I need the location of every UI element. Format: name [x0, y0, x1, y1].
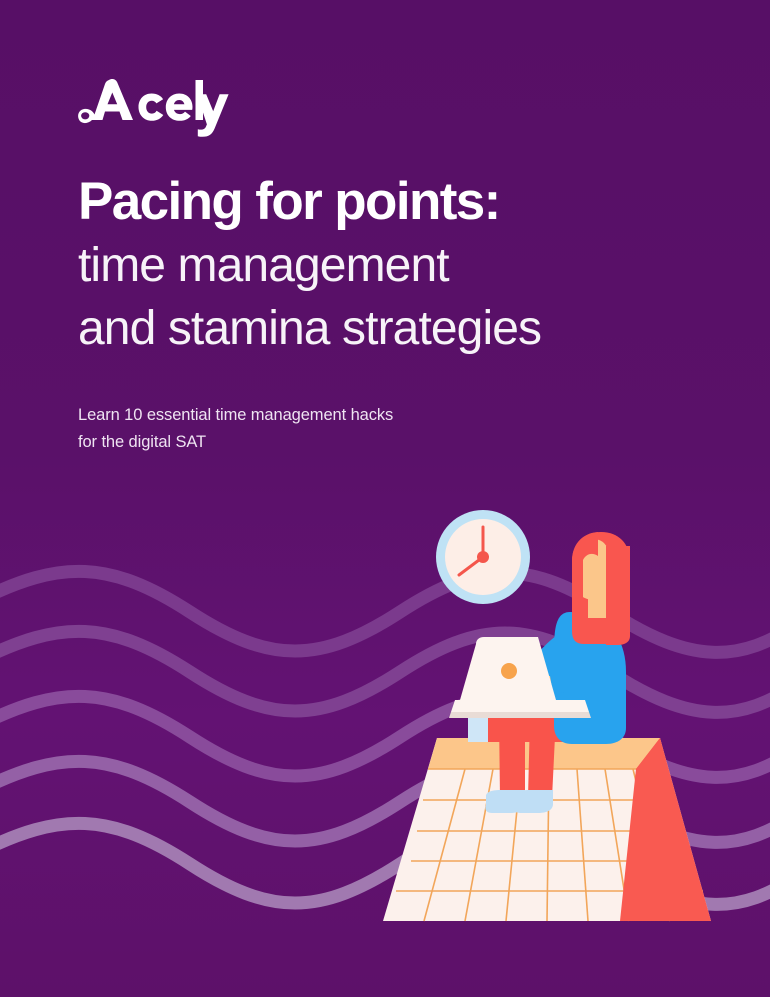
- cover-illustration: [0, 0, 770, 997]
- wall-clock-icon: [436, 510, 530, 604]
- ebook-cover-page: Pacing for points: time management and s…: [0, 0, 770, 997]
